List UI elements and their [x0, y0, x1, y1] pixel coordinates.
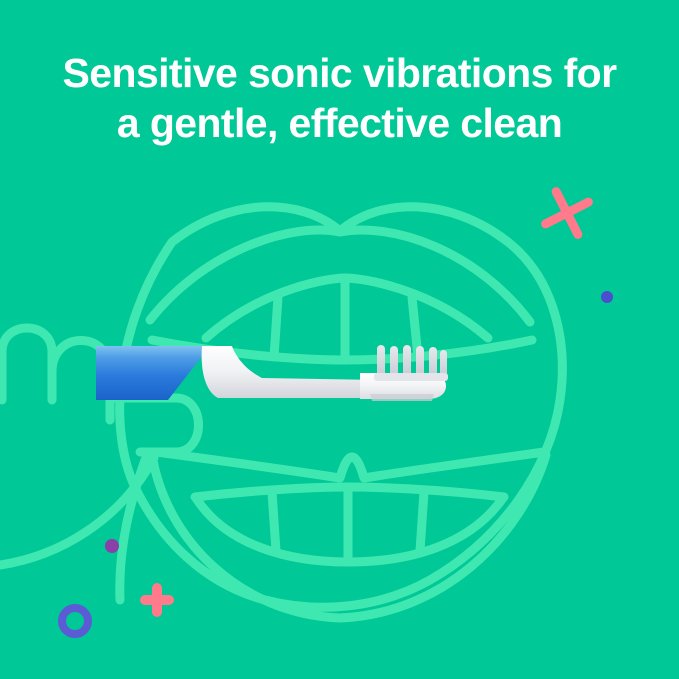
promo-image-canvas: Sensitive sonic vibrations for a gentle,… [0, 0, 679, 679]
purple-dot-left [105, 539, 119, 553]
bristle-base-plate [374, 373, 448, 381]
upper-tooth-divider-1 [274, 297, 278, 357]
pink-plus-mark [145, 588, 169, 612]
lower-lip-line [156, 452, 544, 478]
pink-x-mark [546, 192, 589, 235]
toothbrush-handle [96, 346, 210, 400]
finger-loop-one [2, 328, 52, 400]
lower-tooth-divider-3 [420, 492, 424, 551]
lower-tooth-divider-1 [272, 492, 276, 551]
illustration-artwork [0, 0, 679, 679]
blue-dot-right [601, 291, 613, 303]
toothbrush-head-underside [370, 394, 434, 401]
purple-ring [62, 608, 88, 634]
mouth-line-art [120, 207, 563, 618]
